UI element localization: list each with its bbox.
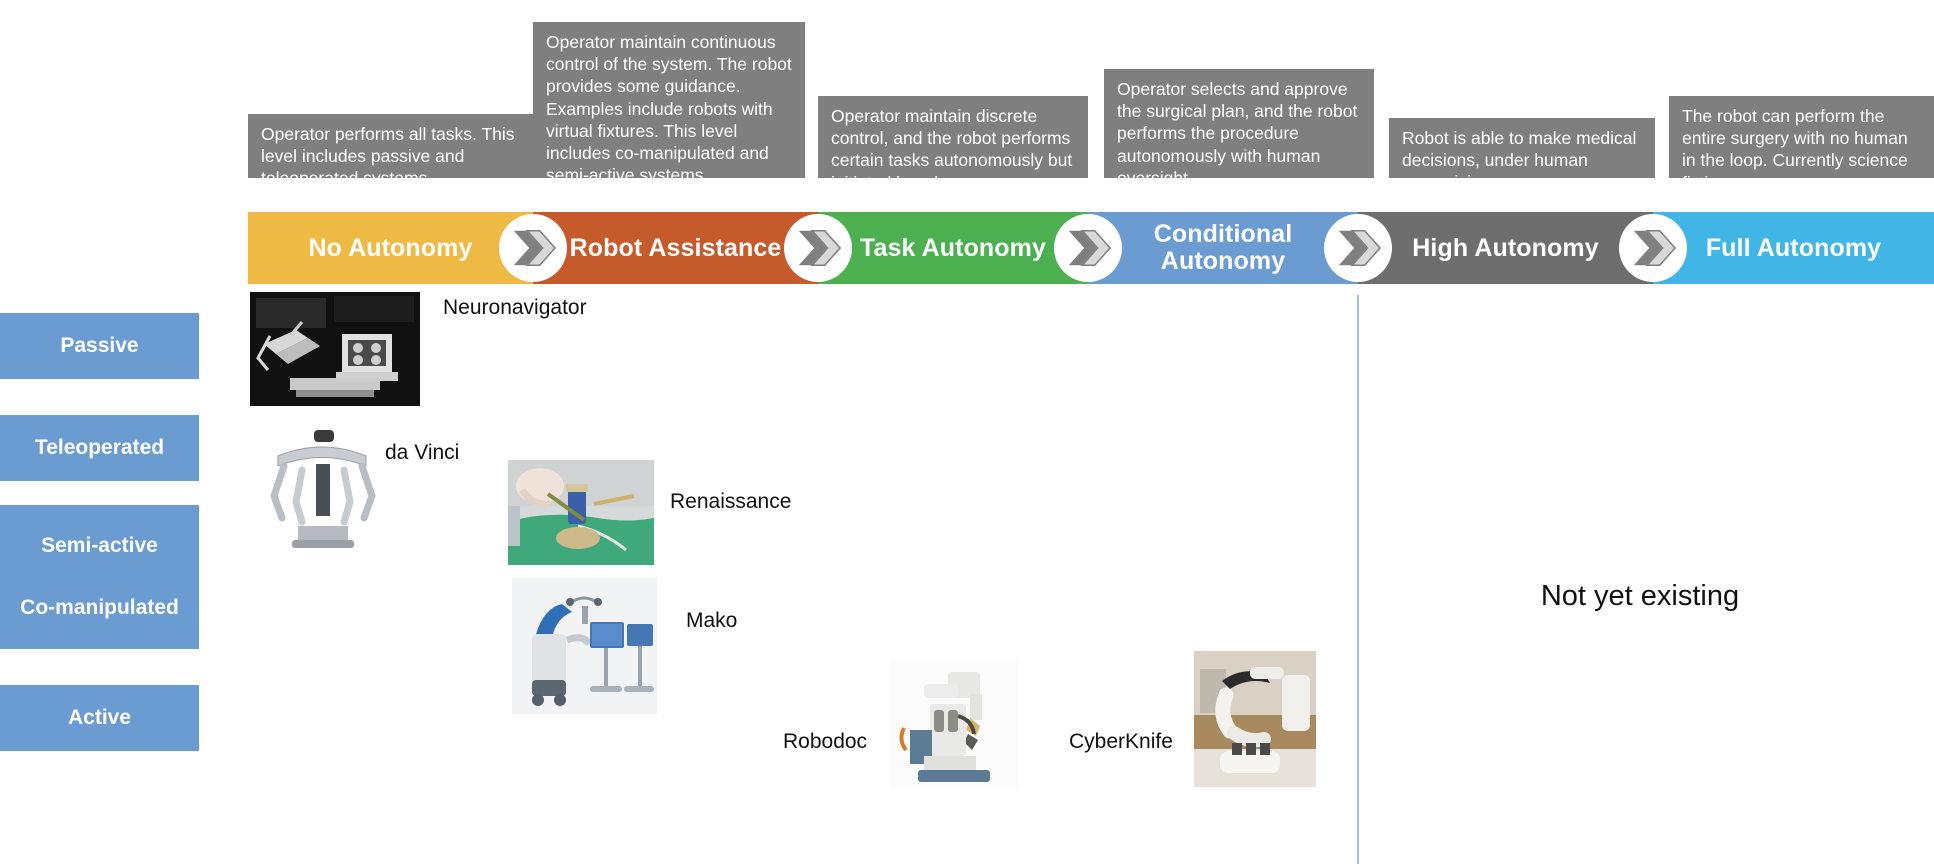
device-cyberknife-label: CyberKnife — [1069, 730, 1173, 754]
vertical-divider — [1357, 295, 1359, 864]
level-task-autonomy-label: Task Autonomy — [854, 234, 1052, 262]
level-no-autonomy[interactable]: No Autonomy — [248, 212, 533, 284]
chevron-right-icon-5 — [1621, 216, 1685, 280]
diagram-canvas: Operator performs all tasks. This level … — [0, 0, 1934, 864]
callout-high-autonomy-text: Robot is able to make medical decisions,… — [1402, 127, 1642, 194]
device-neuronavigator-label: Neuronavigator — [443, 296, 587, 320]
callout-conditional-autonomy-text: Operator selects and approve the surgica… — [1117, 78, 1361, 189]
callout-no-autonomy: Operator performs all tasks. This level … — [248, 114, 538, 178]
callout-task-autonomy: Operator maintain discrete control, and … — [818, 96, 1088, 178]
device-mako-label: Mako — [686, 609, 737, 633]
callout-high-autonomy: Robot is able to make medical decisions,… — [1389, 118, 1655, 178]
callout-full-autonomy-text: The robot can perform the entire surgery… — [1682, 105, 1921, 194]
device-da-vinci-label: da Vinci — [385, 441, 459, 465]
callout-full-autonomy: The robot can perform the entire surgery… — [1669, 96, 1934, 178]
category-active-label: Active — [68, 706, 131, 730]
autonomy-level-band: No Autonomy Robot Assistance Task Autono… — [248, 212, 1934, 284]
level-robot-assistance[interactable]: Robot Assistance — [533, 212, 818, 284]
level-full-autonomy-label: Full Autonomy — [1700, 234, 1887, 262]
future-note: Not yet existing — [1430, 580, 1850, 613]
category-teleoperated-label: Teleoperated — [35, 436, 164, 460]
level-full-autonomy[interactable]: Full Autonomy — [1653, 212, 1934, 284]
level-conditional-autonomy[interactable]: Conditional Autonomy — [1088, 212, 1358, 284]
chevron-right-icon-4 — [1326, 216, 1390, 280]
renaissance-photo — [508, 460, 654, 565]
level-high-autonomy-label: High Autonomy — [1406, 234, 1604, 262]
level-no-autonomy-label: No Autonomy — [302, 234, 478, 262]
da-vinci-photo — [258, 422, 386, 550]
level-robot-assistance-label: Robot Assistance — [564, 234, 788, 262]
device-renaissance-label: Renaissance — [670, 490, 791, 514]
level-conditional-autonomy-label-line1: Conditional — [1148, 221, 1299, 249]
category-passive[interactable]: Passive — [0, 313, 199, 379]
callout-no-autonomy-text: Operator performs all tasks. This level … — [261, 123, 525, 190]
chevron-right-icon-2 — [786, 216, 850, 280]
category-passive-label: Passive — [60, 334, 138, 358]
category-co-manipulated-label: Co-manipulated — [20, 596, 179, 620]
callout-robot-assistance: Operator maintain continuous control of … — [533, 22, 805, 178]
level-conditional-autonomy-label-line2: Autonomy — [1155, 248, 1291, 276]
category-teleoperated[interactable]: Teleoperated — [0, 415, 199, 481]
callout-robot-assistance-text: Operator maintain continuous control of … — [546, 31, 792, 187]
cyberknife-photo — [1194, 651, 1316, 787]
mako-photo — [512, 578, 657, 714]
category-active[interactable]: Active — [0, 685, 199, 751]
category-semi-active-label: Semi-active — [41, 534, 158, 558]
level-high-autonomy[interactable]: High Autonomy — [1358, 212, 1653, 284]
neuronavigator-photo — [250, 292, 420, 406]
chevron-right-icon-3 — [1056, 216, 1120, 280]
device-robodoc-label: Robodoc — [783, 730, 867, 754]
category-semi-active[interactable]: Semi-active Co-manipulated — [0, 505, 199, 649]
callout-conditional-autonomy: Operator selects and approve the surgica… — [1104, 69, 1374, 178]
callout-task-autonomy-text: Operator maintain discrete control, and … — [831, 105, 1075, 194]
robodoc-photo — [890, 660, 1018, 788]
chevron-right-icon-1 — [501, 216, 565, 280]
level-task-autonomy[interactable]: Task Autonomy — [818, 212, 1088, 284]
